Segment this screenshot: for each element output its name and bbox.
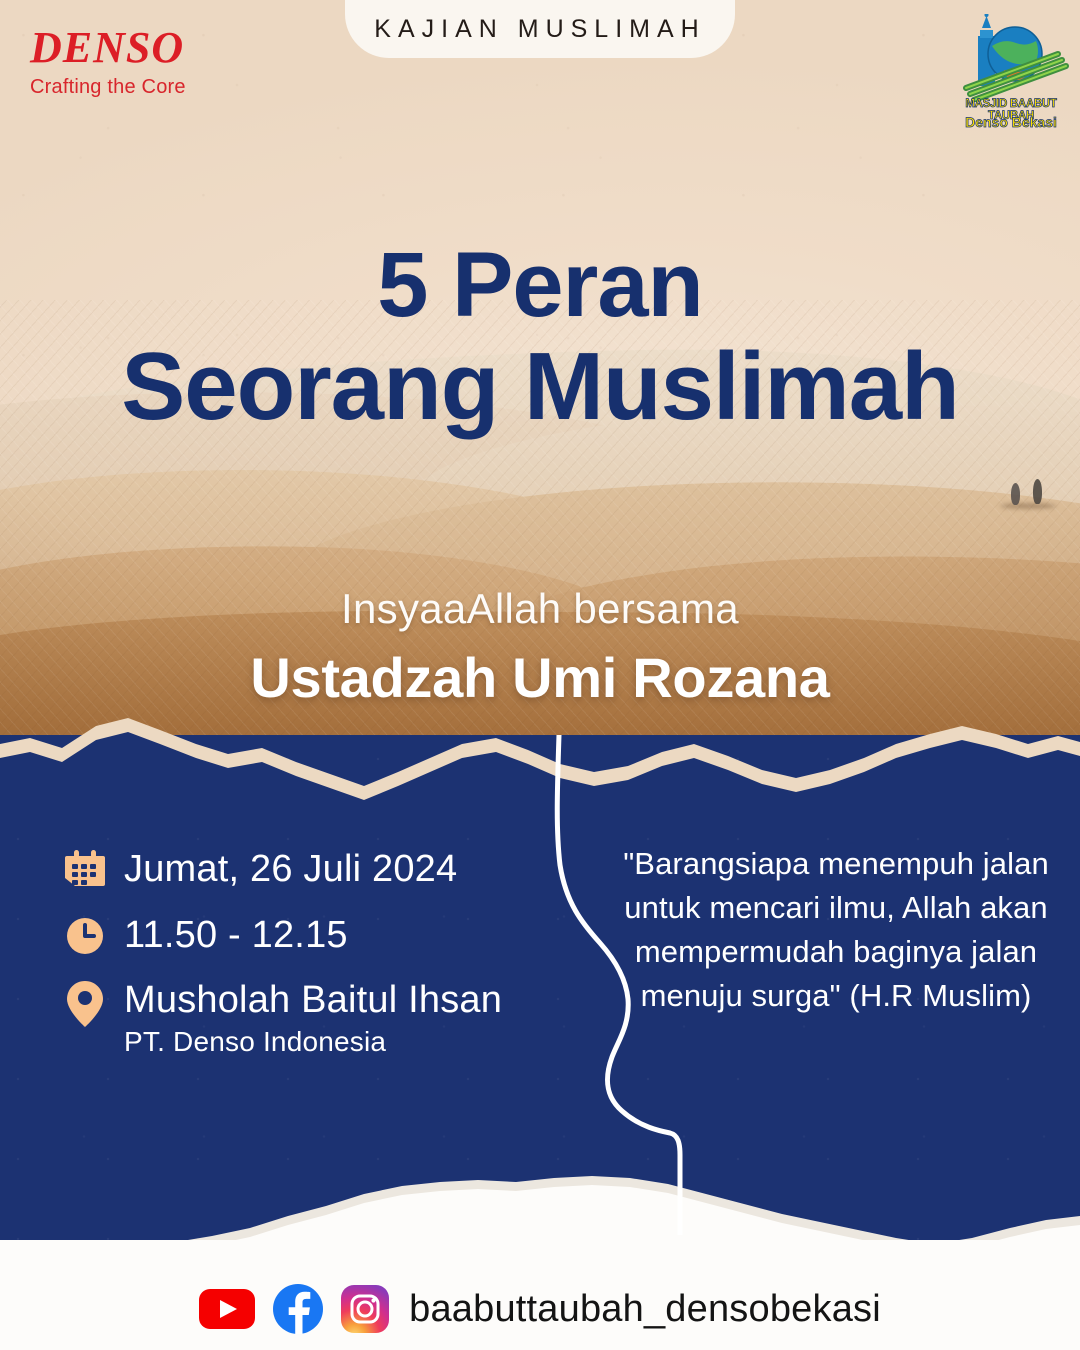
location-pin-icon <box>62 981 108 1027</box>
speaker-name: Ustadzah Umi Rozana <box>0 645 1080 710</box>
denso-logo: DENSO Crafting the Core <box>30 26 186 99</box>
poster-title: 5 Peran Seorang Muslimah <box>0 236 1080 439</box>
title-line-1: 5 Peran <box>377 234 702 336</box>
badge-label: KAJIAN MUSLIMAH <box>374 15 705 44</box>
figures-shadow <box>1000 503 1056 509</box>
detail-location-sub: PT. Denso Indonesia <box>124 1025 502 1059</box>
poster: DENSO Crafting the Core KAJIAN MUSLIMAH <box>0 0 1080 1350</box>
clock-icon <box>62 916 108 956</box>
person-silhouette <box>1011 483 1020 505</box>
detail-row-location: Musholah Baitul Ihsan PT. Denso Indonesi… <box>62 979 582 1058</box>
hadith-quote: "Barangsiapa menempuh jalan untuk mencar… <box>612 842 1060 1018</box>
title-line-2: Seorang Muslimah <box>0 335 1080 439</box>
kajian-muslimah-badge: KAJIAN MUSLIMAH <box>345 0 735 58</box>
detail-date-text: Jumat, 26 Juli 2024 <box>124 848 457 891</box>
social-handle: baabuttaubah_densobekasi <box>409 1288 881 1331</box>
detail-row-time: 11.50 - 12.15 <box>62 914 582 957</box>
mosque-logo-line2: Denso Bekasi <box>952 114 1070 130</box>
footer-social-bar: baabuttaubah_densobekasi <box>0 1278 1080 1340</box>
facebook-icon[interactable] <box>273 1284 323 1334</box>
denso-tagline: Crafting the Core <box>30 76 186 99</box>
detail-location-text: Musholah Baitul Ihsan <box>124 979 502 1022</box>
calendar-icon <box>62 850 108 892</box>
detail-time-text: 11.50 - 12.15 <box>124 914 348 957</box>
denso-wordmark: DENSO <box>30 26 186 70</box>
mosque-globe-icon <box>952 14 1070 102</box>
event-details: Jumat, 26 Juli 2024 11.50 - 12.15 <box>62 848 582 1080</box>
detail-row-date: Jumat, 26 Juli 2024 <box>62 848 582 892</box>
person-silhouette <box>1033 479 1042 504</box>
youtube-icon[interactable] <box>199 1289 255 1329</box>
speaker-intro: InsyaaAllah bersama <box>0 585 1080 633</box>
masjid-baabut-taubah-logo: MASJID BAABUT TAUBAH Denso Bekasi <box>952 14 1070 140</box>
instagram-icon[interactable] <box>341 1285 389 1333</box>
